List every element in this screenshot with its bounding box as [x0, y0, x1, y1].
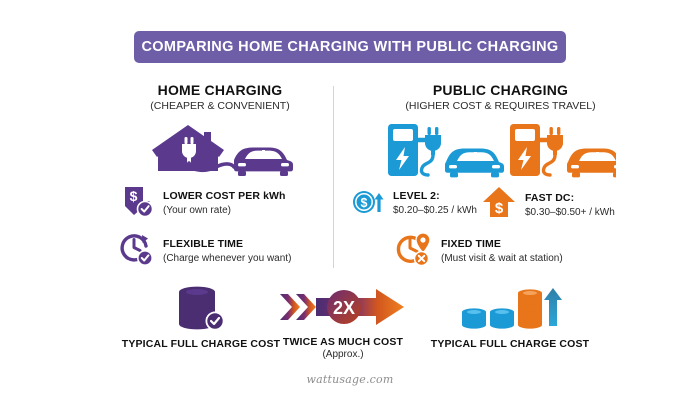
feature-fixed-time: FIXED TIME (Must visit & wait at station…: [396, 232, 563, 266]
gradient-double-arrow-2x-icon: 2X: [268, 284, 418, 330]
feature-level-2-title: LEVEL 2:: [393, 190, 440, 202]
multiplier-value: 2X: [333, 298, 355, 318]
svg-text:$: $: [130, 188, 138, 204]
feature-lower-cost-text: LOWER COST PER kWh (Your own rate): [163, 186, 286, 217]
page-title-banner: COMPARING HOME CHARGING WITH PUBLIC CHAR…: [134, 31, 566, 63]
feature-level-2-text: LEVEL 2: $0.20–$0.25 / kWh: [393, 186, 477, 217]
feature-fixed-time-title: FIXED TIME: [441, 238, 501, 250]
two-charging-stations-with-cars-icon: [384, 118, 616, 185]
blue-dollar-coin-up-arrow-icon: $: [352, 188, 384, 216]
public-subheading-text: (HIGHER COST & REQUIRES TRAVEL): [368, 100, 633, 112]
feature-flexible-time-text: FLEXIBLE TIME (Charge whenever you want): [163, 234, 291, 265]
clock-arrow-check-icon: [120, 232, 154, 266]
home-heading-text: HOME CHARGING: [110, 82, 330, 98]
page-title: COMPARING HOME CHARGING WITH PUBLIC CHAR…: [141, 39, 558, 55]
footer: wattusage.com: [0, 370, 700, 388]
down-arrow-dollar-check-icon: $: [120, 184, 154, 218]
feature-lower-cost-sub: (Your own rate): [163, 205, 286, 217]
orange-up-arrow-dollar-icon: $: [482, 186, 516, 220]
feature-flexible-time-sub: (Charge whenever you want): [163, 253, 291, 265]
house-with-plug-and-car-icon: [146, 124, 294, 185]
feature-flexible-time-title: FLEXIBLE TIME: [163, 238, 243, 250]
home-column-heading: HOME CHARGING (CHEAPER & CONVENIENT): [110, 82, 330, 112]
public-column-heading: PUBLIC CHARGING (HIGHER COST & REQUIRES …: [368, 82, 633, 112]
home-subheading-text: (CHEAPER & CONVENIENT): [110, 100, 330, 112]
infographic-page: COMPARING HOME CHARGING WITH PUBLIC CHAR…: [0, 0, 700, 420]
public-heading-text: PUBLIC CHARGING: [368, 82, 633, 98]
feature-fast-dc-rate-value: $0.30–$0.50+ / kWh: [525, 207, 615, 219]
feature-fixed-time-sub: (Must visit & wait at station): [441, 253, 563, 265]
bottom-public-charge-cost: TYPICAL FULL CHARGE COST: [404, 286, 616, 350]
bottom-public-charge-cost-label: TYPICAL FULL CHARGE COST: [404, 338, 616, 350]
feature-fast-dc-title: FAST DC:: [525, 192, 574, 204]
column-divider: [333, 86, 334, 268]
feature-lower-cost-title: LOWER COST PER kWh: [163, 190, 286, 202]
bottom-twice-cost-label: TWICE AS MUCH COST: [268, 336, 418, 348]
feature-level-2-rate: $ LEVEL 2: $0.20–$0.25 / kWh: [352, 186, 477, 217]
svg-text:$: $: [361, 196, 368, 210]
blue-orange-coin-stacks-up-arrow-icon: [404, 286, 616, 332]
site-watermark: wattusage.com: [307, 373, 394, 386]
feature-lower-cost-per-kwh: $ LOWER COST PER kWh (Your own rate): [120, 184, 286, 218]
bottom-twice-cost-sub: (Approx.): [268, 349, 418, 360]
feature-fast-dc-rate: $ FAST DC: $0.30–$0.50+ / kWh: [482, 186, 615, 220]
feature-fast-dc-text: FAST DC: $0.30–$0.50+ / kWh: [525, 188, 615, 219]
feature-flexible-time: FLEXIBLE TIME (Charge whenever you want): [120, 232, 291, 266]
feature-level-2-rate-value: $0.20–$0.25 / kWh: [393, 205, 477, 217]
feature-fixed-time-text: FIXED TIME (Must visit & wait at station…: [441, 234, 563, 265]
clock-pin-x-icon: [396, 232, 432, 266]
svg-text:$: $: [495, 200, 504, 217]
bottom-twice-as-much-cost: 2X TWICE AS MUCH COST (Approx.): [268, 284, 418, 360]
